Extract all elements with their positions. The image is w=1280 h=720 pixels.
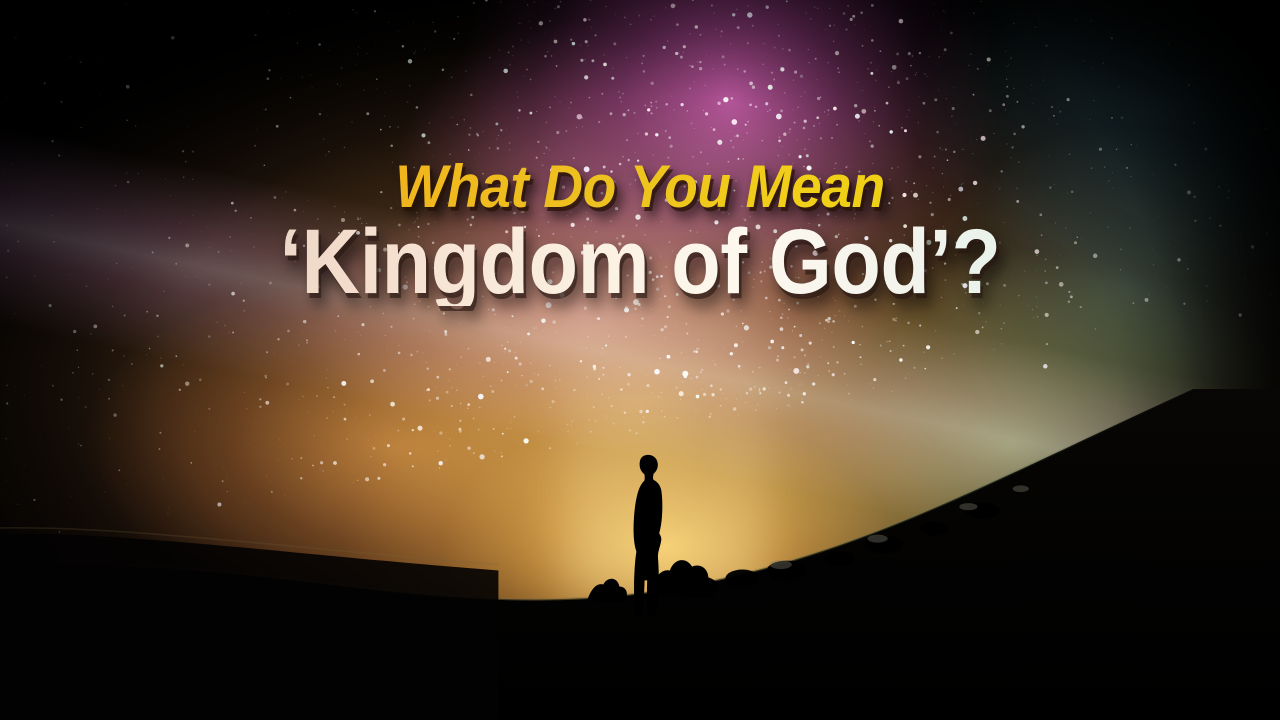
thumbnail-canvas: What Do You Mean ‘Kingdom of God’?: [0, 0, 1280, 720]
title-line-1: What Do You Mean: [51, 158, 1229, 216]
title-block: What Do You Mean ‘Kingdom of God’?: [0, 158, 1280, 306]
title-line-2: ‘Kingdom of God’?: [77, 218, 1203, 306]
standing-person-silhouette: [622, 452, 676, 620]
